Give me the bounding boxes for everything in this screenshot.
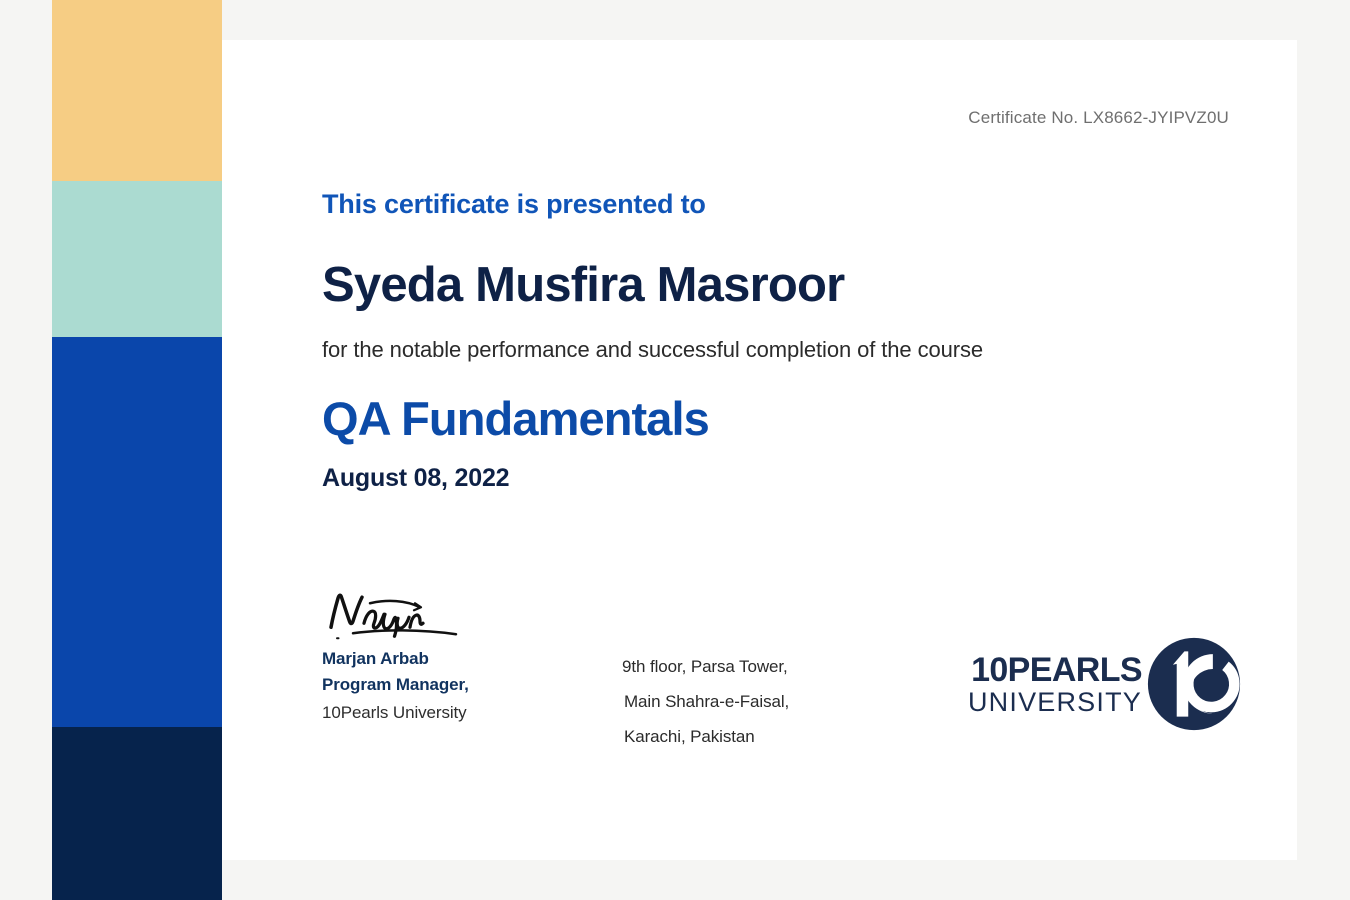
color-stripe-navy	[52, 727, 222, 900]
certificate-footer: Marjan Arbab Program Manager, 10Pearls U…	[322, 588, 1242, 778]
brand-subtitle: UNIVERSITY	[968, 689, 1142, 716]
brand-wordmark: 10PEARLS UNIVERSITY	[968, 653, 1146, 716]
left-color-bar	[52, 0, 222, 900]
address-line-3: Karachi, Pakistan	[622, 720, 882, 755]
color-stripe-tan	[52, 0, 222, 181]
color-stripe-mint	[52, 181, 222, 337]
signatory-title: Program Manager,	[322, 672, 572, 698]
handwritten-signature-icon	[322, 588, 472, 646]
completion-description: for the notable performance and successf…	[322, 337, 1257, 363]
signature-block: Marjan Arbab Program Manager, 10Pearls U…	[322, 588, 572, 726]
tenpearls-circle-logo-icon	[1146, 636, 1242, 732]
certificate-body: This certificate is presented to Syeda M…	[322, 190, 1257, 492]
certificate-number: Certificate No. LX8662-JYIPVZ0U	[968, 108, 1229, 128]
address-line-1: 9th floor, Parsa Tower,	[622, 650, 882, 685]
signatory-name: Marjan Arbab	[322, 646, 572, 672]
signatory-organization: 10Pearls University	[322, 699, 572, 726]
course-title: QA Fundamentals	[322, 394, 1257, 443]
brand-logo: 10PEARLS UNIVERSITY	[968, 636, 1242, 732]
address-line-2: Main Shahra-e-Faisal,	[622, 685, 882, 720]
presented-to-line: This certificate is presented to	[322, 190, 1257, 220]
certificate-page: Certificate No. LX8662-JYIPVZ0U This cer…	[0, 0, 1350, 900]
recipient-name: Syeda Musfira Masroor	[322, 260, 1257, 311]
issue-date: August 08, 2022	[322, 465, 1257, 493]
color-stripe-blue	[52, 337, 222, 727]
address-block: 9th floor, Parsa Tower, Main Shahra-e-Fa…	[622, 650, 882, 755]
certificate-card: Certificate No. LX8662-JYIPVZ0U This cer…	[222, 40, 1297, 860]
brand-name: 10PEARLS	[971, 653, 1142, 687]
